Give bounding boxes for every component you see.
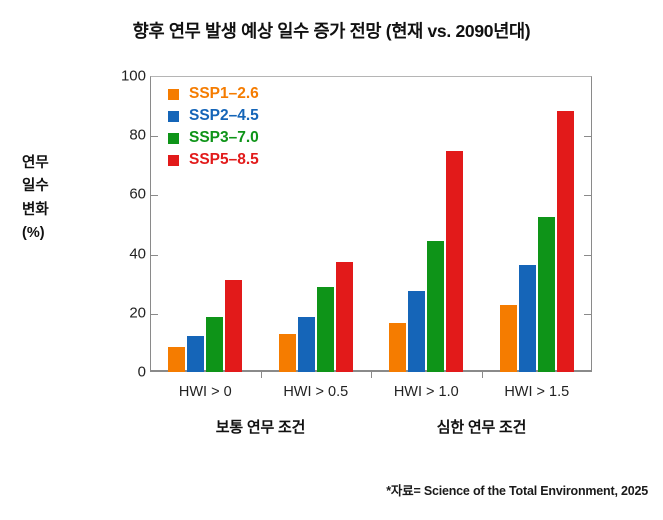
x-axis-group-label: 보통 연무 조건 [216, 416, 306, 437]
y-axis-tick-label: 40 [108, 245, 146, 262]
y-axis-title-line-1: 연무 [22, 152, 100, 175]
y-axis-tick-labels: 020406080100 [104, 0, 146, 520]
y-axis-tick-label: 80 [108, 127, 146, 144]
chart-plot-area: 020406080100 연무 일수 변화 (%) SSP1–2.6SSP2–4… [0, 0, 663, 520]
bar [557, 111, 574, 372]
y-axis-title-line-4: (%) [22, 222, 100, 245]
y-axis-tick-label: 0 [108, 364, 146, 381]
bars-layer [150, 76, 592, 372]
bar-group [150, 76, 592, 372]
y-axis-tick-label: 60 [108, 186, 146, 203]
x-axis-ticks [150, 372, 592, 380]
y-axis-title-line-2: 일수 [22, 175, 100, 198]
y-axis-title-line-3: 변화 [22, 199, 100, 222]
x-axis-tick-label: HWI > 0 [179, 384, 232, 400]
x-axis-tick-mark [482, 372, 483, 378]
x-axis-tick-label: HWI > 1.0 [394, 384, 459, 400]
x-axis-tick-label: HWI > 1.5 [504, 384, 569, 400]
source-note: *자료= Science of the Total Environment, 2… [0, 480, 648, 499]
x-axis-tick-label: HWI > 0.5 [283, 384, 348, 400]
y-axis-tick-label: 20 [108, 304, 146, 321]
y-axis-tick-label: 100 [108, 68, 146, 85]
x-axis-tick-mark [371, 372, 372, 378]
bar [500, 305, 517, 372]
x-axis-group-label: 심한 연무 조건 [437, 416, 527, 437]
bar [519, 265, 536, 372]
y-axis-title: 연무 일수 변화 (%) [22, 152, 100, 246]
bar [538, 217, 555, 372]
x-axis-tick-mark [261, 372, 262, 378]
